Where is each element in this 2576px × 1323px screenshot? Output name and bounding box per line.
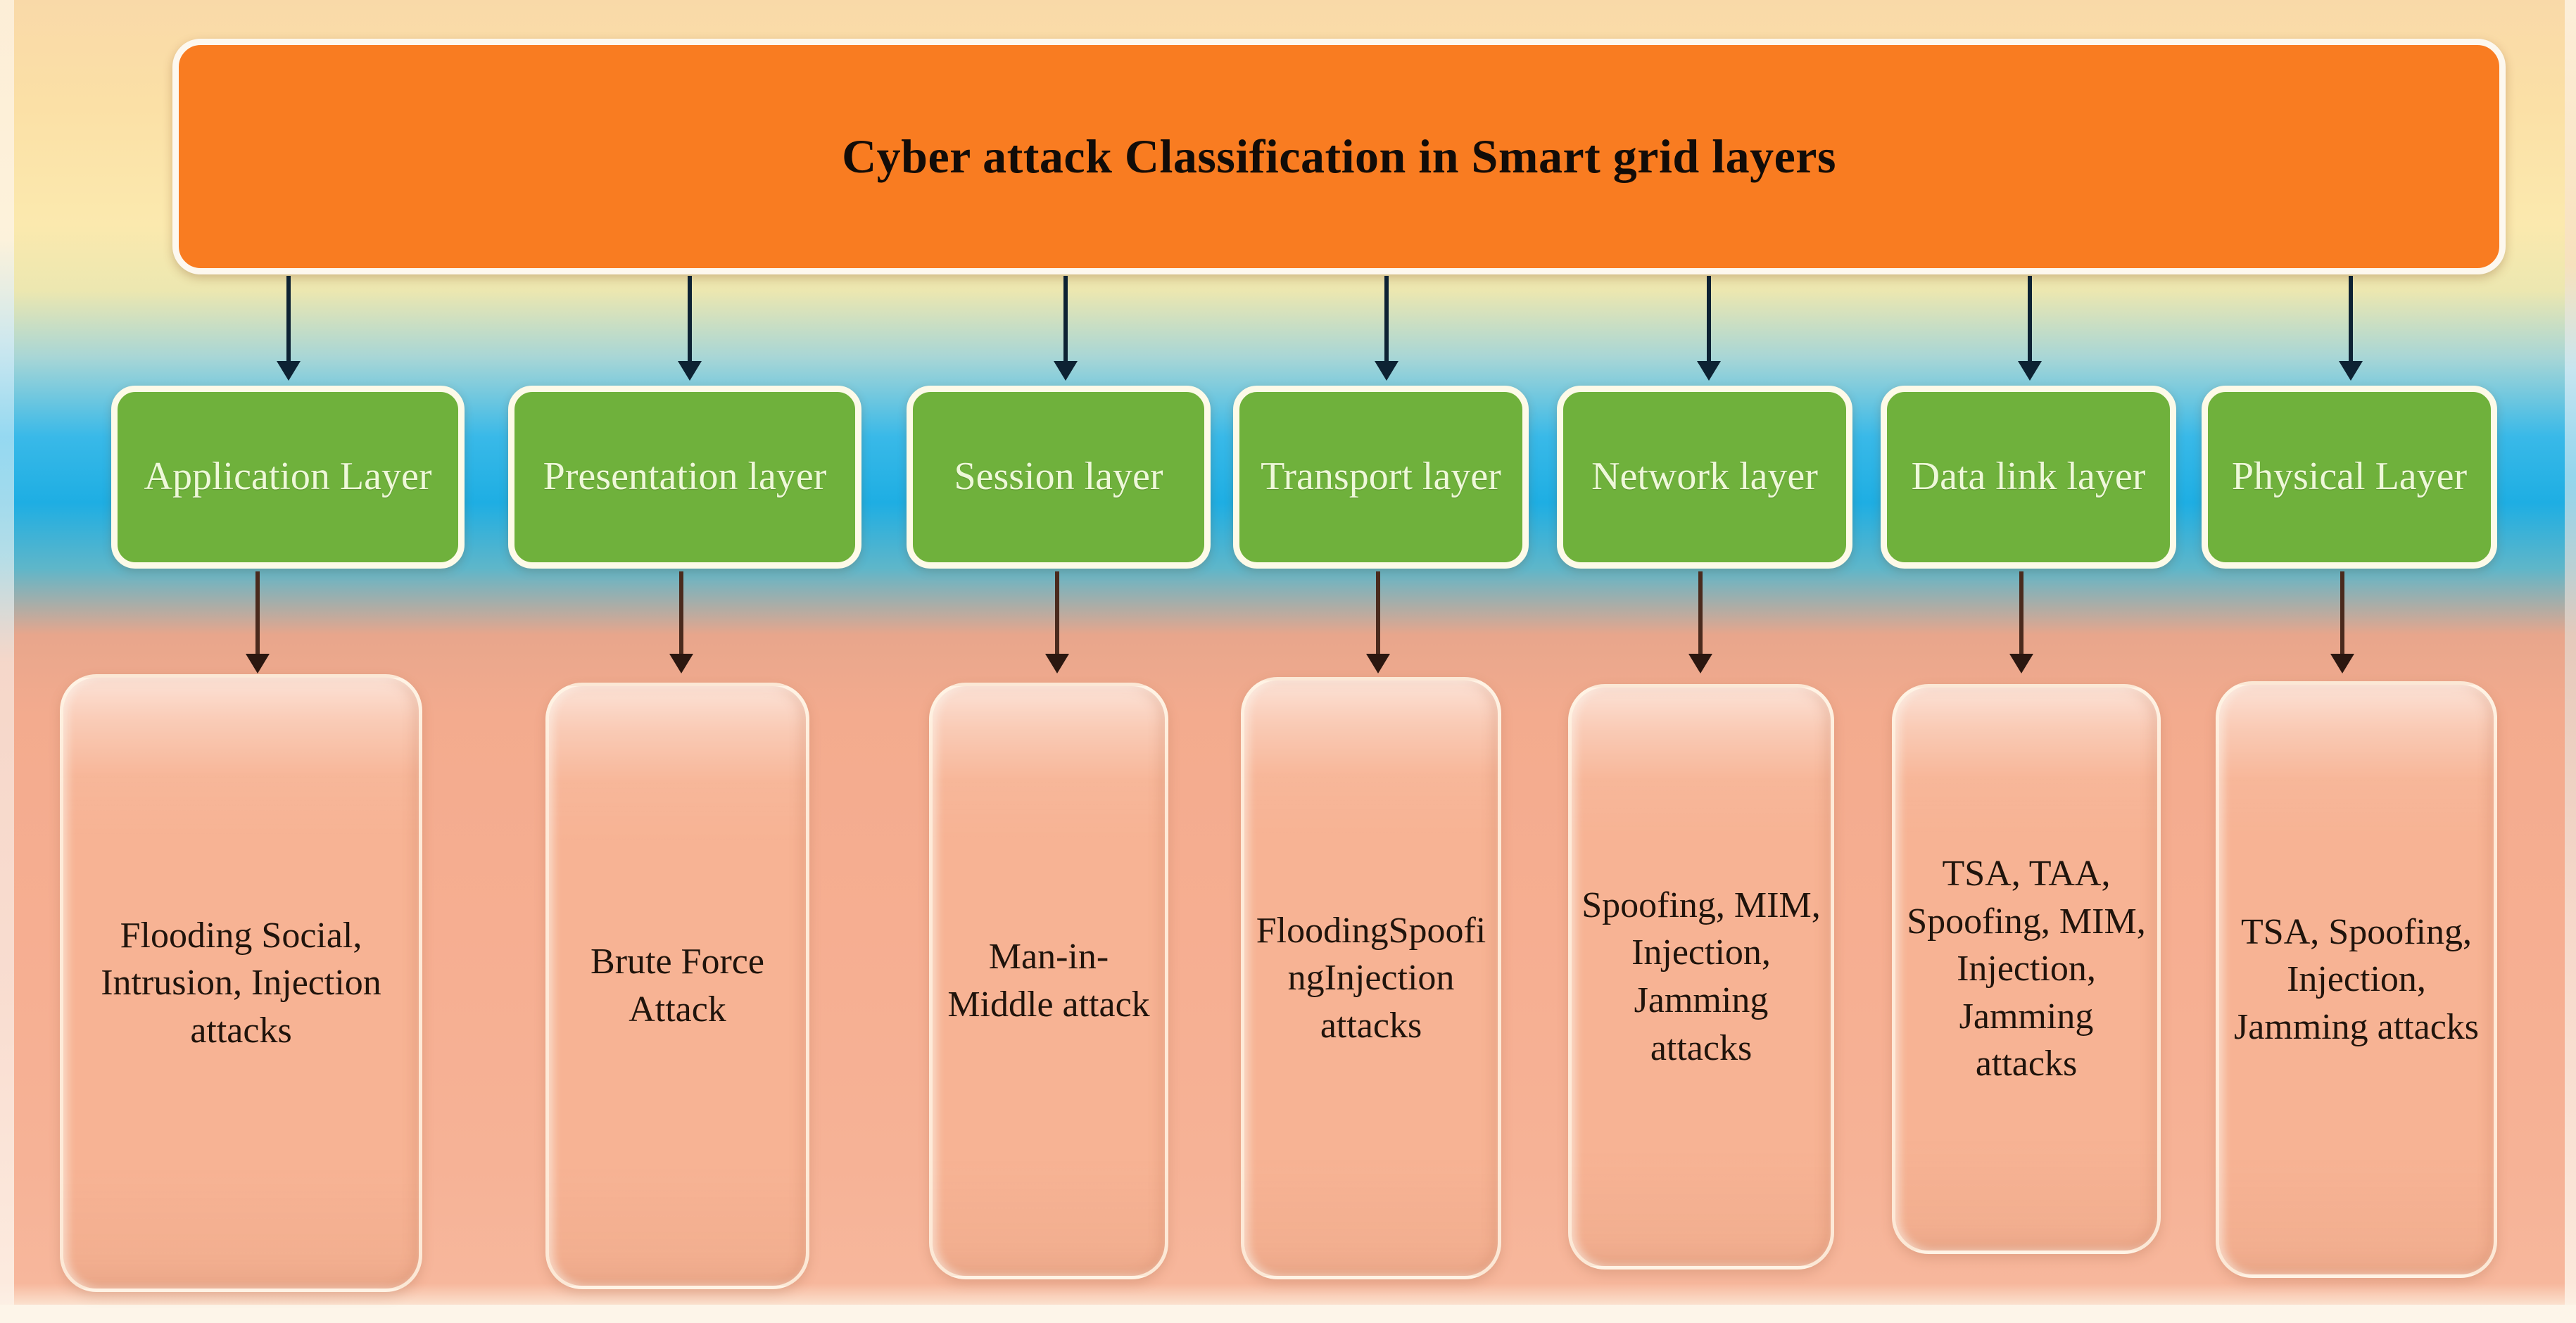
arrow-header-to-layer-1 [276,276,301,381]
arrow-header-to-layer-7 [2338,276,2363,381]
diagram-canvas: Cyber attack Classification in Smart gri… [0,0,2576,1323]
arrow-layer-to-attack-5 [1688,571,1713,673]
attack-box-network[interactable]: Spoofing, MIM, Injection, Jamming attack… [1568,684,1834,1270]
arrow-layer-to-attack-4 [1365,571,1391,673]
arrow-header-to-layer-3 [1053,276,1078,381]
attack-box-application[interactable]: Flooding Social, Intrusion, Injection at… [60,674,422,1292]
layer-box-presentation[interactable]: Presentation layer [508,386,861,569]
layer-box-data-link[interactable]: Data link layer [1881,386,2176,569]
attack-box-session[interactable]: Man-in-Middle attack [929,683,1168,1279]
arrow-header-to-layer-4 [1374,276,1399,381]
attack-text: TSA, TAA, Spoofing, MIM, Injection, Jamm… [1905,850,2147,1088]
attack-text: TSA, Spoofing, Injection, Jamming attack… [2229,909,2484,1051]
layer-box-transport[interactable]: Transport layer [1233,386,1529,569]
layer-box-physical[interactable]: Physical Layer [2202,386,2497,569]
attack-box-transport[interactable]: FloodingSpoofingInjection attacks [1241,677,1501,1279]
arrow-layer-to-attack-3 [1044,571,1070,673]
layer-label: Session layer [954,452,1163,502]
attack-text: Flooding Social, Intrusion, Injection at… [73,912,409,1055]
layer-box-session[interactable]: Session layer [907,386,1211,569]
layer-label: Transport layer [1261,452,1501,502]
arrow-layer-to-attack-6 [2009,571,2034,673]
attack-text: Man-in-Middle attack [942,933,1155,1028]
layer-box-network[interactable]: Network layer [1557,386,1852,569]
layer-box-application[interactable]: Application Layer [111,386,465,569]
arrow-layer-to-attack-2 [669,571,694,673]
attack-text: FloodingSpoofingInjection attacks [1254,907,1488,1050]
attack-box-data-link[interactable]: TSA, TAA, Spoofing, MIM, Injection, Jamm… [1892,684,2161,1254]
arrow-header-to-layer-2 [677,276,702,381]
arrow-layer-to-attack-7 [2330,571,2355,673]
background-right-edge [2565,0,2576,1323]
arrow-header-to-layer-6 [2017,276,2043,381]
page-title: Cyber attack Classification in Smart gri… [842,130,1836,183]
layer-label: Presentation layer [543,452,827,502]
background-left-edge [0,0,14,1323]
layer-label: Network layer [1591,452,1818,502]
attack-box-presentation[interactable]: Brute Force Attack [545,683,809,1289]
header-box: Cyber attack Classification in Smart gri… [172,39,2506,274]
attack-text: Brute Force Attack [559,938,796,1033]
attack-box-physical[interactable]: TSA, Spoofing, Injection, Jamming attack… [2216,681,2497,1278]
layer-label: Physical Layer [2232,452,2467,502]
layer-label: Application Layer [144,452,432,502]
attack-text: Spoofing, MIM, Injection, Jamming attack… [1581,882,1821,1072]
layer-label: Data link layer [1912,452,2146,502]
arrow-layer-to-attack-1 [245,571,270,673]
arrow-header-to-layer-5 [1696,276,1722,381]
background-bottom-strip [0,1305,2576,1323]
